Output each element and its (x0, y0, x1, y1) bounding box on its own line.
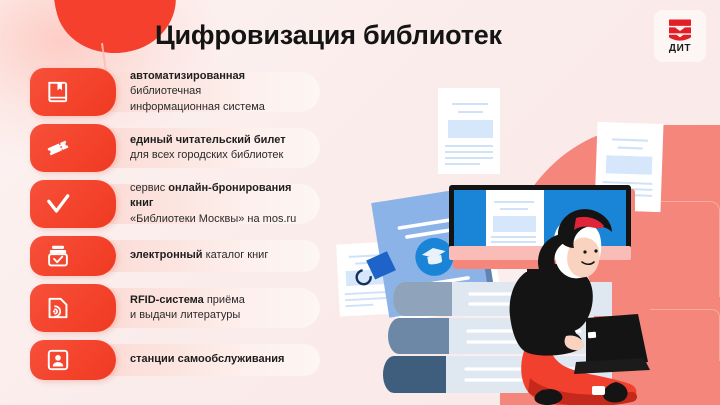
feature-item-online-booking-service[interactable]: сервис онлайн-бронирования книг «Библиот… (30, 180, 320, 228)
feature-label: автоматизированная библиотечная информац… (130, 69, 308, 115)
feature-second-line: и выдачи литературы (130, 309, 240, 321)
rfid-card-icon (45, 295, 71, 321)
logo-text: ДИТ (669, 44, 691, 54)
feature-icon-badge (30, 180, 116, 228)
feature-icon-badge (30, 68, 116, 116)
feature-bold-text: автоматизированная (130, 70, 245, 82)
feature-label: RFID-система приёма и выдачи литературы (130, 293, 245, 323)
feature-regular-text: библиотечная (130, 85, 201, 97)
feature-label: единый читательский билет для всех город… (130, 133, 286, 163)
feature-label: сервис онлайн-бронирования книг «Библиот… (130, 181, 308, 227)
feature-icon-badge (30, 340, 116, 380)
features-list: автоматизированная библиотечная информац… (30, 68, 320, 388)
feature-item-unified-reader-card[interactable]: единый читательский билет для всех город… (30, 124, 320, 172)
logo: ДИТ (654, 10, 706, 62)
feature-item-electronic-catalog[interactable]: электронный каталог книг (30, 236, 320, 276)
feature-second-line: информационная система (130, 101, 265, 113)
check-icon (45, 191, 71, 217)
feature-second-line: для всех городских библиотек (130, 149, 283, 161)
illustration (330, 86, 720, 405)
catalog-box-check-icon (45, 243, 71, 269)
floating-document-top (438, 88, 500, 174)
feature-second-line: «Библиотеки Москвы» на mos.ru (130, 213, 296, 225)
feature-label: электронный каталог книг (130, 248, 268, 263)
feature-bold-text: RFID-система (130, 294, 204, 306)
feature-bold-text: станции самообслуживания (130, 353, 284, 365)
ticket-icon (45, 135, 71, 161)
feature-pre-text: сервис (130, 182, 168, 194)
book-bookmark-icon (45, 79, 71, 105)
feature-item-rfid-system[interactable]: RFID-система приёма и выдачи литературы (30, 284, 320, 332)
slide-root: Цифровизация библиотек ДИТ автоматизиров… (0, 0, 720, 405)
feature-item-automated-library-system[interactable]: автоматизированная библиотечная информац… (30, 68, 320, 116)
feature-icon-badge (30, 236, 116, 276)
feature-item-self-service-stations[interactable]: станции самообслуживания (30, 340, 320, 380)
page-title: Цифровизация библиотек (155, 20, 635, 51)
dit-emblem-icon (667, 18, 693, 41)
feature-regular-text: каталог книг (203, 249, 269, 261)
feature-label: станции самообслуживания (130, 352, 284, 367)
feature-regular-text: приёма (204, 294, 245, 306)
feature-icon-badge (30, 284, 116, 332)
feature-bold-text: электронный (130, 249, 203, 261)
id-person-icon (45, 347, 71, 373)
feature-bold-text: единый читательский билет (130, 134, 286, 146)
feature-icon-badge (30, 124, 116, 172)
